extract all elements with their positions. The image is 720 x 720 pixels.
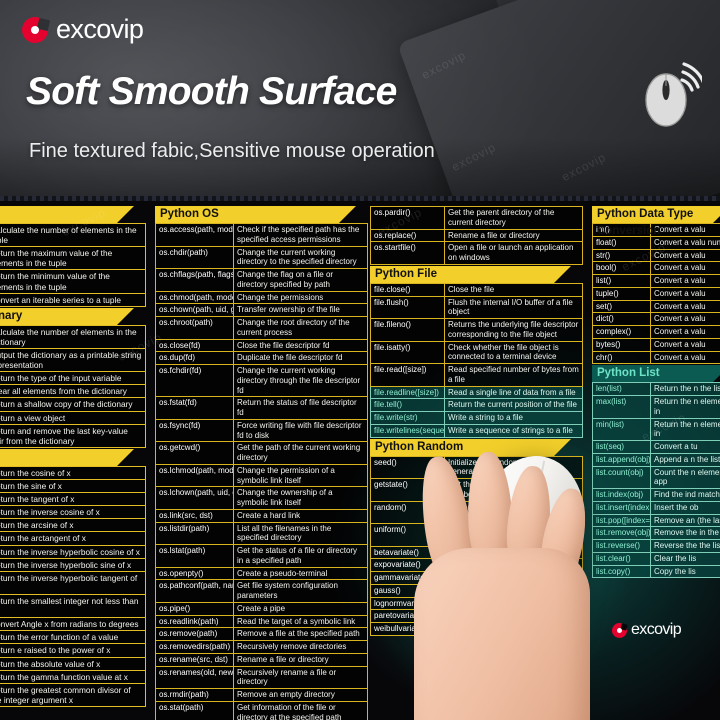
table-row: Convert Angle x from radians to degrees: [0, 618, 146, 631]
function-description: Create a pipe: [234, 602, 368, 615]
function-name: os.close(fd): [156, 339, 234, 352]
function-description: Convert a tu: [651, 441, 720, 454]
table-row: list.copy()Copy the lis: [593, 565, 720, 578]
function-name: os.fsync(fd): [156, 419, 234, 442]
function-name: list.append(obj): [593, 453, 651, 466]
function-name: os.readlink(path): [156, 615, 234, 628]
table-row: file.writelines(sequence)Write a sequenc…: [371, 424, 583, 437]
table-row: file.write(str)Write a string to a file: [371, 412, 583, 425]
function-name: list.reverse(): [593, 540, 651, 553]
function-description: Return the inverse hyperbolic cosine of …: [0, 545, 146, 558]
function-name: file.close(): [371, 283, 445, 296]
cheatsheet-section: onaryCalculate the number of elements in…: [0, 308, 146, 448]
table-row: min(list)Return the n elements in: [593, 418, 720, 441]
function-description: Flush the internal I/O buffer of a file …: [445, 296, 583, 319]
table-row: bool()Convert a valu: [593, 262, 720, 275]
function-description: Insert the ob: [651, 501, 720, 514]
function-description: Remove an empty directory: [234, 689, 368, 702]
function-description: Return the inverse hyperbolic sine of x: [0, 558, 146, 571]
function-description: Return the absolute value of x: [0, 657, 146, 670]
table-row: os.lchown(path, uid, gid)Change the owne…: [156, 487, 368, 510]
table-row: os.getcwd()Get the path of the current w…: [156, 442, 368, 465]
function-description: Convert a valu: [651, 224, 720, 237]
function-name: os.access(path, mode): [156, 224, 234, 247]
table-row: os.chdir(path)Change the current working…: [156, 246, 368, 269]
function-description: Returns the underlying file descriptor c…: [445, 319, 583, 342]
reference-table: Calculate the number of elements in the …: [0, 223, 146, 307]
table-row: file.fileno()Returns the underlying file…: [371, 319, 583, 342]
stitched-edge: [0, 196, 720, 201]
table-row: Return the inverse cosine of x: [0, 506, 146, 519]
function-name: getstate(): [371, 479, 445, 502]
function-description: Remove an (the last ele: [651, 514, 720, 527]
function-name: dict(): [593, 313, 651, 326]
table-row: os.removedirs(path)Recursively remove di…: [156, 641, 368, 654]
table-row: Return the type of the input variable: [0, 372, 146, 385]
table-row: os.close(fd)Close the file descriptor fd: [156, 339, 368, 352]
table-row: file.read([size])Read specified number o…: [371, 364, 583, 387]
function-name: list.count(obj): [593, 466, 651, 489]
table-row: os.listdir(path)List all the filenames i…: [156, 522, 368, 545]
function-description: Return the maximum value of the elements…: [0, 247, 146, 270]
table-row: set()Convert a valu: [593, 300, 720, 313]
function-name: len(list): [593, 383, 651, 396]
section-title: onary: [0, 308, 117, 325]
cheatsheet-section: Python Data Type Conversionint()Convert …: [592, 206, 720, 364]
function-description: Write a sequence of strings to a file: [445, 424, 583, 437]
function-description: Create a hard link: [234, 509, 368, 522]
function-description: Convert a valu: [651, 313, 720, 326]
function-description: Return the greatest common divisor of th…: [0, 683, 146, 706]
function-description: Get file system configuration parameters: [234, 580, 368, 603]
table-row: Return the error function of a value: [0, 631, 146, 644]
table-row: os.startfile()Open a file or launch an a…: [371, 242, 583, 265]
function-name: os.pardir(): [371, 207, 445, 230]
pad-brand-logo: excovip: [612, 622, 681, 638]
function-name: gauss(): [371, 584, 445, 597]
function-description: Reverse the the list: [651, 540, 720, 553]
function-description: Calculate the number of elements in the …: [0, 224, 146, 247]
table-row: os.stat(path)Get information of the file…: [156, 701, 368, 720]
function-name: file.tell(): [371, 399, 445, 412]
function-name: os.chdir(path): [156, 246, 234, 269]
function-name: list(): [593, 275, 651, 288]
function-description: Convert a valu: [651, 351, 720, 364]
hero-banner: excovip excovip excovip excovip Soft Smo…: [0, 0, 720, 196]
function-description: Return the status of file descriptor fd: [234, 397, 368, 420]
table-row: os.chflags(path, flags)Change the flag o…: [156, 269, 368, 292]
function-name: os.pathconf(path, name): [156, 580, 234, 603]
table-row: file.flush()Flush the internal I/O buffe…: [371, 296, 583, 319]
function-name: os.chmod(path, mode): [156, 291, 234, 304]
function-description: Return the current position of the file: [445, 399, 583, 412]
function-name: os.chown(path, uid, gid): [156, 304, 234, 317]
table-row: Return a shallow copy of the dictionary: [0, 398, 146, 411]
function-name: max(list): [593, 396, 651, 419]
section-title: Python File: [370, 266, 554, 283]
table-row: Return the cosine of x: [0, 466, 146, 479]
function-description: Calculate the number of elements in the …: [0, 325, 146, 348]
table-row: list.reverse()Reverse the the list: [593, 540, 720, 553]
cheatsheet: eCalculate the number of elements in the…: [0, 206, 720, 720]
table-row: os.fsync(fd)Force writing file with file…: [156, 419, 368, 442]
function-description: Convert a valu: [651, 287, 720, 300]
table-row: list.remove(obj)Remove the in the list: [593, 527, 720, 540]
table-row: Return the sine of x: [0, 479, 146, 492]
function-name: os.startfile(): [371, 242, 445, 265]
table-row: Return the inverse hyperbolic cosine of …: [0, 545, 146, 558]
table-row: Return the minimum value of the elements…: [0, 270, 146, 293]
function-description: Convert a valu: [651, 300, 720, 313]
table-row: Return the inverse hyperbolic tangent of…: [0, 571, 146, 594]
table-row: list.index(obj)Find the ind match for a: [593, 489, 720, 502]
table-row: Return the maximum value of the elements…: [0, 247, 146, 270]
function-description: Rename a file or directory: [445, 229, 583, 242]
function-description: Return the minimum value of the elements…: [0, 270, 146, 293]
function-description: Duplicate the file descriptor fd: [234, 352, 368, 365]
function-name: os.chflags(path, flags): [156, 269, 234, 292]
excovip-logo-icon: [22, 17, 48, 43]
reference-table: Calculate the number of elements in the …: [0, 325, 146, 448]
function-description: Get the path of the current working dire…: [234, 442, 368, 465]
table-row: list()Convert a valu: [593, 275, 720, 288]
table-row: len(list)Return the n the list: [593, 383, 720, 396]
function-name: list.copy(): [593, 565, 651, 578]
table-row: os.dup(fd)Duplicate the file descriptor …: [156, 352, 368, 365]
function-description: Return the n elements in: [651, 418, 720, 441]
excovip-logo-icon: [612, 623, 627, 638]
function-name: weibullvariate(): [371, 623, 445, 636]
function-description: Change the ownership of a symbolic link …: [234, 487, 368, 510]
function-name: os.lchmod(path, mode): [156, 464, 234, 487]
table-row: Calculate the number of elements in the …: [0, 224, 146, 247]
function-description: Remove a file at the specified path: [234, 628, 368, 641]
reference-table: os.pardir()Get the parent directory of t…: [370, 206, 583, 265]
function-description: Recursively rename a file or directory: [234, 666, 368, 689]
function-description: List all the filenames in the specified …: [234, 522, 368, 545]
function-name: seed(): [371, 456, 445, 479]
function-name: file.writelines(sequence): [371, 424, 445, 437]
table-row: os.lstat(path)Get the status of a file o…: [156, 545, 368, 568]
function-name: file.flush(): [371, 296, 445, 319]
function-name: os.pipe(): [156, 602, 234, 615]
function-description: Return and remove the last key-value pai…: [0, 424, 146, 447]
function-description: Convert a valu: [651, 338, 720, 351]
table-row: list.pop([index=-1])Remove an (the last …: [593, 514, 720, 527]
table-row: Return the inverse hyperbolic sine of x: [0, 558, 146, 571]
table-row: list.append(obj)Append a n the list: [593, 453, 720, 466]
table-row: list.clear()Clear the lis: [593, 552, 720, 565]
function-name: bytes(): [593, 338, 651, 351]
table-row: Output the dictionary as a printable str…: [0, 348, 146, 371]
function-name: tuple(): [593, 287, 651, 300]
function-name: list(seq): [593, 441, 651, 454]
function-name: lognormvariate(): [371, 597, 445, 610]
function-description: Append a n the list: [651, 453, 720, 466]
function-name: os.listdir(path): [156, 522, 234, 545]
reference-table: len(list)Return the n the listmax(list)R…: [592, 382, 720, 578]
section-title: Python List: [592, 365, 713, 382]
function-description: Remove the in the list: [651, 527, 720, 540]
function-name: os.removedirs(path): [156, 641, 234, 654]
function-name: gammavariate(): [371, 572, 445, 585]
function-description: Change the permission of a symbolic link…: [234, 464, 368, 487]
table-row: Return the smallest integer not less tha…: [0, 594, 146, 617]
function-description: Convert a valu number: [651, 236, 720, 249]
table-row: list(seq)Convert a tu: [593, 441, 720, 454]
table-row: os.rmdir(path)Remove an empty directory: [156, 689, 368, 702]
function-description: Clear all elements from the dictionary: [0, 385, 146, 398]
function-name: os.stat(path): [156, 701, 234, 720]
function-description: Return e raised to the power of x: [0, 644, 146, 657]
function-description: Return a view object: [0, 411, 146, 424]
function-name: list.index(obj): [593, 489, 651, 502]
reference-table: os.access(path, mode)Check if the specif…: [155, 223, 368, 720]
cheatsheet-section: Python Listlen(list)Return the n the lis…: [592, 365, 720, 578]
function-description: Get information of the file or directory…: [234, 701, 368, 720]
function-name: betavariate(): [371, 546, 445, 559]
reference-table: Return the cosine of xReturn the sine of…: [0, 466, 146, 707]
column-python-os: Python OSos.access(path, mode)Check if t…: [155, 206, 368, 720]
function-description: Count the n element app: [651, 466, 720, 489]
function-description: Convert a valu: [651, 249, 720, 262]
function-name: file.read([size]): [371, 364, 445, 387]
section-title: e: [0, 206, 117, 223]
table-row: os.chroot(path)Change the root directory…: [156, 317, 368, 340]
function-description: Return the sine of x: [0, 479, 146, 492]
column-types-list: Python Data Type Conversionint()Convert …: [592, 206, 720, 579]
function-description: Get the parent directory of the current …: [445, 207, 583, 230]
hero-title: Soft Smooth Surface: [26, 70, 397, 114]
function-description: Check whether the file object is connect…: [445, 341, 583, 364]
function-description: Return the smallest integer not less tha…: [0, 594, 146, 617]
function-name: uniform(): [371, 524, 445, 547]
section-title: h: [0, 449, 117, 466]
function-description: Return the gamma function value at x: [0, 670, 146, 683]
function-description: Convert a valu: [651, 326, 720, 339]
table-row: bytes()Convert a valu: [593, 338, 720, 351]
function-name: os.dup(fd): [156, 352, 234, 365]
table-row: os.readlink(path)Read the target of a sy…: [156, 615, 368, 628]
table-row: file.readline([size])Read a single line …: [371, 386, 583, 399]
function-name: str(): [593, 249, 651, 262]
table-row: Return the arctangent of x: [0, 532, 146, 545]
function-description: Get the status of a file or directory in…: [234, 545, 368, 568]
function-description: Convert Angle x from radians to degrees: [0, 618, 146, 631]
table-row: Calculate the number of elements in the …: [0, 325, 146, 348]
table-row: Return a view object: [0, 411, 146, 424]
function-name: os.lstat(path): [156, 545, 234, 568]
function-description: Close the file: [445, 283, 583, 296]
table-row: os.fchdir(fd)Change the current working …: [156, 365, 368, 397]
function-description: Return the inverse hyperbolic tangent of…: [0, 571, 146, 594]
cheatsheet-section: eCalculate the number of elements in the…: [0, 206, 146, 307]
hero-subtitle: Fine textured fabic,Sensitive mouse oper…: [29, 140, 435, 163]
cheatsheet-section: hReturn the cosine of xReturn the sine o…: [0, 449, 146, 707]
table-row: os.fstat(fd)Return the status of file de…: [156, 397, 368, 420]
function-name: file.fileno(): [371, 319, 445, 342]
table-row: os.pardir()Get the parent directory of t…: [371, 207, 583, 230]
function-name: list.pop([index=-1]): [593, 514, 651, 527]
function-description: Convert a valu: [651, 262, 720, 275]
function-description: Create a pseudo-terminal: [234, 567, 368, 580]
function-description: Force writing file with file descriptor …: [234, 419, 368, 442]
function-description: Clear the lis: [651, 552, 720, 565]
function-description: Change the current working directory to …: [234, 246, 368, 269]
function-name: os.fstat(fd): [156, 397, 234, 420]
table-row: Return the arcsine of x: [0, 519, 146, 532]
brand-name: excovip: [56, 16, 143, 43]
function-name: os.link(src, dst): [156, 509, 234, 522]
function-description: Change the permissions: [234, 291, 368, 304]
function-description: Open a file or launch an application on …: [445, 242, 583, 265]
function-description: Return the cosine of x: [0, 466, 146, 479]
function-description: Copy the lis: [651, 565, 720, 578]
table-row: file.isatty()Check whether the file obje…: [371, 341, 583, 364]
function-description: Read the target of a symbolic link: [234, 615, 368, 628]
column-left-partial: eCalculate the number of elements in the…: [0, 206, 146, 708]
function-description: Return the tangent of x: [0, 493, 146, 506]
table-row: os.openpty()Create a pseudo-terminal: [156, 567, 368, 580]
function-name: os.remove(path): [156, 628, 234, 641]
function-name: file.write(str): [371, 412, 445, 425]
product-listing-image: excovip excovip excovip excovip Soft Smo…: [0, 0, 720, 720]
cheatsheet-section: Python Filefile.close()Close the filefil…: [370, 266, 583, 438]
function-description: Recursively remove directories: [234, 641, 368, 654]
table-row: os.pipe()Create a pipe: [156, 602, 368, 615]
function-name: os.rename(src, dst): [156, 653, 234, 666]
function-description: Return a shallow copy of the dictionary: [0, 398, 146, 411]
function-description: Rename a file or directory: [234, 653, 368, 666]
table-row: file.close()Close the file: [371, 283, 583, 296]
function-name: os.openpty(): [156, 567, 234, 580]
table-row: os.replace()Rename a file or directory: [371, 229, 583, 242]
table-row: list.count(obj)Count the n element app: [593, 466, 720, 489]
function-name: list.clear(): [593, 552, 651, 565]
function-description: Return the type of the input variable: [0, 372, 146, 385]
brand-name: excovip: [631, 622, 681, 638]
function-name: chr(): [593, 351, 651, 364]
function-name: os.lchown(path, uid, gid): [156, 487, 234, 510]
function-description: Return the n the list: [651, 383, 720, 396]
scroll-wheel: [525, 496, 546, 517]
function-name: list.remove(obj): [593, 527, 651, 540]
table-row: complex()Convert a valu: [593, 326, 720, 339]
function-description: Transfer ownership of the file: [234, 304, 368, 317]
table-row: Return the absolute value of x: [0, 657, 146, 670]
table-row: file.tell()Return the current position o…: [371, 399, 583, 412]
table-row: os.lchmod(path, mode)Change the permissi…: [156, 464, 368, 487]
table-row: Return and remove the last key-value pai…: [0, 424, 146, 447]
function-description: Change the root directory of the current…: [234, 317, 368, 340]
reference-table: file.close()Close the filefile.flush()Fl…: [370, 283, 583, 438]
function-description: Change the flag on a file or directory s…: [234, 269, 368, 292]
wireless-mouse-icon: [642, 62, 702, 128]
cheatsheet-section: Python OSos.access(path, mode)Check if t…: [155, 206, 368, 720]
reference-table: int()Convert a valufloat()Convert a valu…: [592, 223, 720, 364]
table-row: Return e raised to the power of x: [0, 644, 146, 657]
function-description: Output the dictionary as a printable str…: [0, 348, 146, 371]
table-row: dict()Convert a valu: [593, 313, 720, 326]
function-name: os.getcwd(): [156, 442, 234, 465]
function-name: paretovariate(): [371, 610, 445, 623]
section-title: Python Random: [370, 439, 554, 456]
table-row: chr()Convert a valu: [593, 351, 720, 364]
function-description: Change the current working directory thr…: [234, 365, 368, 397]
function-name: os.chroot(path): [156, 317, 234, 340]
function-description: Return the arcsine of x: [0, 519, 146, 532]
table-row: Return the greatest common divisor of th…: [0, 683, 146, 706]
section-title: Python Data Type Conversion: [592, 206, 713, 223]
table-row: list.insert(index, obj)Insert the ob: [593, 501, 720, 514]
table-row: os.rename(src, dst)Rename a file or dire…: [156, 653, 368, 666]
cheatsheet-section: os.pardir()Get the parent directory of t…: [370, 206, 583, 265]
table-row: tuple()Convert a valu: [593, 287, 720, 300]
table-row: os.link(src, dst)Create a hard link: [156, 509, 368, 522]
function-name: complex(): [593, 326, 651, 339]
function-description: Return the arctangent of x: [0, 532, 146, 545]
function-description: Find the ind match for a: [651, 489, 720, 502]
function-name: file.isatty(): [371, 341, 445, 364]
table-row: Return the tangent of x: [0, 493, 146, 506]
function-description: Write a string to a file: [445, 412, 583, 425]
brand-logo: excovip: [22, 16, 143, 43]
table-row: Return the gamma function value at x: [0, 670, 146, 683]
function-name: file.readline([size]): [371, 386, 445, 399]
function-name: bool(): [593, 262, 651, 275]
function-description: Check if the specified path has the spec…: [234, 224, 368, 247]
table-row: str()Convert a valu: [593, 249, 720, 262]
function-name: set(): [593, 300, 651, 313]
section-title: Python OS: [155, 206, 339, 223]
table-row: os.chmod(path, mode)Change the permissio…: [156, 291, 368, 304]
function-description: Return the inverse cosine of x: [0, 506, 146, 519]
function-description: Return the n elements in: [651, 396, 720, 419]
function-description: Read a single line of data from a file: [445, 386, 583, 399]
function-description: Read specified number of bytes from a fi…: [445, 364, 583, 387]
table-row: Convert an iterable series to a tuple: [0, 293, 146, 306]
function-name: os.rmdir(path): [156, 689, 234, 702]
function-description: Convert an iterable series to a tuple: [0, 293, 146, 306]
table-row: max(list)Return the n elements in: [593, 396, 720, 419]
function-name: os.renames(old, new): [156, 666, 234, 689]
function-name: os.fchdir(fd): [156, 365, 234, 397]
function-description: Return the error function of a value: [0, 631, 146, 644]
function-description: Convert a valu: [651, 275, 720, 288]
table-row: os.pathconf(path, name)Get file system c…: [156, 580, 368, 603]
function-name: random(): [371, 501, 445, 524]
table-row: Clear all elements from the dictionary: [0, 385, 146, 398]
table-row: os.remove(path)Remove a file at the spec…: [156, 628, 368, 641]
table-row: os.renames(old, new)Recursively rename a…: [156, 666, 368, 689]
function-name: min(list): [593, 418, 651, 441]
function-name: os.replace(): [371, 229, 445, 242]
function-description: Close the file descriptor fd: [234, 339, 368, 352]
table-row: os.access(path, mode)Check if the specif…: [156, 224, 368, 247]
function-name: expovariate(): [371, 559, 445, 572]
table-row: os.chown(path, uid, gid)Transfer ownersh…: [156, 304, 368, 317]
function-name: list.insert(index, obj): [593, 501, 651, 514]
